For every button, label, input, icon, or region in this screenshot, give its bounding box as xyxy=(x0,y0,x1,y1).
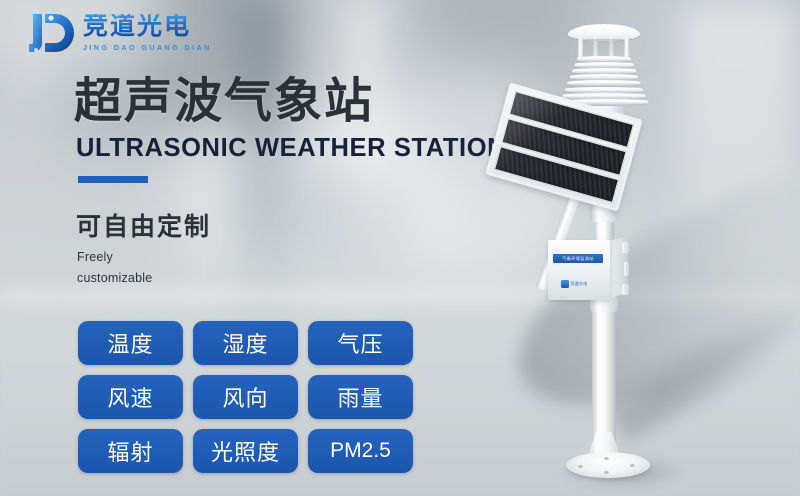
jd-monogram-icon xyxy=(24,8,76,58)
feature-tag[interactable]: 风向 xyxy=(193,375,298,419)
tagline-en: Freely customizable xyxy=(77,247,152,289)
page-title: 超声波气象站 xyxy=(74,78,374,126)
hero-banner: 竞道光电 JING DAO GUANG DIAN 超声波气象站 ULTRASON… xyxy=(0,0,800,496)
accent-divider xyxy=(78,176,148,183)
feature-tag-list: 温度湿度气压风速风向雨量辐射光照度PM2.5 xyxy=(78,321,413,473)
tagline-cn: 可自由定制 xyxy=(76,207,211,243)
feature-tag[interactable]: 辐射 xyxy=(78,429,183,473)
base-contact-shadow xyxy=(558,455,688,489)
feature-tag[interactable]: 湿度 xyxy=(193,321,298,365)
page-subtitle: ULTRASONIC WEATHER STATION xyxy=(76,134,506,163)
feature-tag[interactable]: 雨量 xyxy=(308,375,413,419)
brand-name-cn: 竞道光电 xyxy=(83,14,212,39)
brand-name-en: JING DAO GUANG DIAN xyxy=(83,43,212,52)
feature-tag[interactable]: 风速 xyxy=(78,375,183,419)
feature-tag[interactable]: 光照度 xyxy=(193,429,298,473)
feature-tag[interactable]: 温度 xyxy=(78,321,183,365)
feature-tag[interactable]: 气压 xyxy=(308,321,413,365)
tagline-en-line2: customizable xyxy=(77,268,152,289)
brand-logo[interactable]: 竞道光电 JING DAO GUANG DIAN xyxy=(24,8,212,58)
feature-tag[interactable]: PM2.5 xyxy=(308,429,413,473)
tagline-en-line1: Freely xyxy=(77,247,152,268)
